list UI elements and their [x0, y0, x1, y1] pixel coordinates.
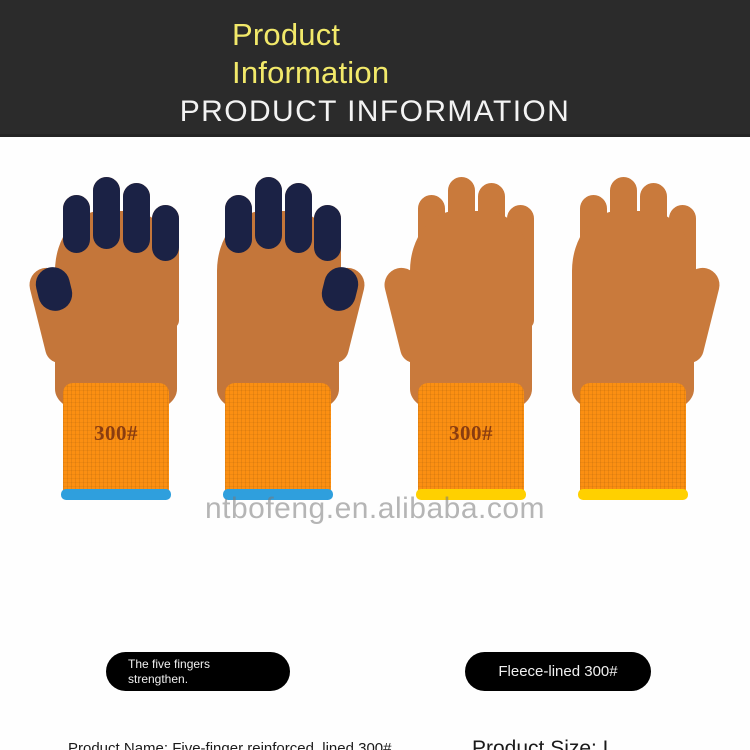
reinforced-fingertip-middle — [255, 177, 282, 249]
glove-pair-five-finger-reinforced: 300# — [35, 155, 365, 500]
cuff-hem — [61, 489, 171, 500]
header-title-accent: Product Information — [232, 16, 562, 92]
cuff-model-mark: 300# — [63, 421, 169, 446]
latex-coated-palm — [410, 211, 532, 411]
feature-label-five-fingers: The five fingers strengthen. — [106, 652, 290, 691]
latex-coated-palm — [572, 211, 694, 411]
reinforced-fingertip-little — [152, 205, 179, 261]
knit-cuff — [580, 383, 686, 495]
cuff-model-mark: 300# — [418, 421, 524, 446]
cuff-hem — [223, 489, 333, 500]
cuff-hem — [416, 489, 526, 500]
spec-product-size: Product Size: L — [472, 737, 614, 750]
knit-cuff: 300# — [63, 383, 169, 495]
feature-label-fleece-lined: Fleece-lined 300# — [465, 652, 651, 691]
header-banner: Product Information PRODUCT INFORMATION — [0, 0, 750, 137]
knit-cuff: 300# — [418, 383, 524, 495]
reinforced-fingertip-ring — [285, 183, 312, 253]
reinforced-fingertip-middle — [93, 177, 120, 249]
reinforced-fingertip-index — [63, 195, 90, 253]
glove-back-view: 300# — [396, 155, 546, 500]
cuff-hem — [578, 489, 688, 500]
product-photo-area: 300# — [0, 137, 750, 750]
glove-pair-fleece-lined: 300# — [390, 155, 720, 500]
page-title: PRODUCT INFORMATION — [0, 94, 750, 130]
product-information-page: Product Information PRODUCT INFORMATION … — [0, 0, 750, 750]
glove-back-view: 300# — [41, 155, 191, 500]
glove-palm-view — [558, 155, 708, 500]
glove-palm-view — [203, 155, 353, 500]
reinforced-fingertip-little — [314, 205, 341, 261]
reinforced-fingertip-ring — [123, 183, 150, 253]
reinforced-fingertip-index — [225, 195, 252, 253]
spec-product-name: Product Name: Five-finger reinforced, li… — [68, 740, 392, 750]
knit-cuff — [225, 383, 331, 495]
